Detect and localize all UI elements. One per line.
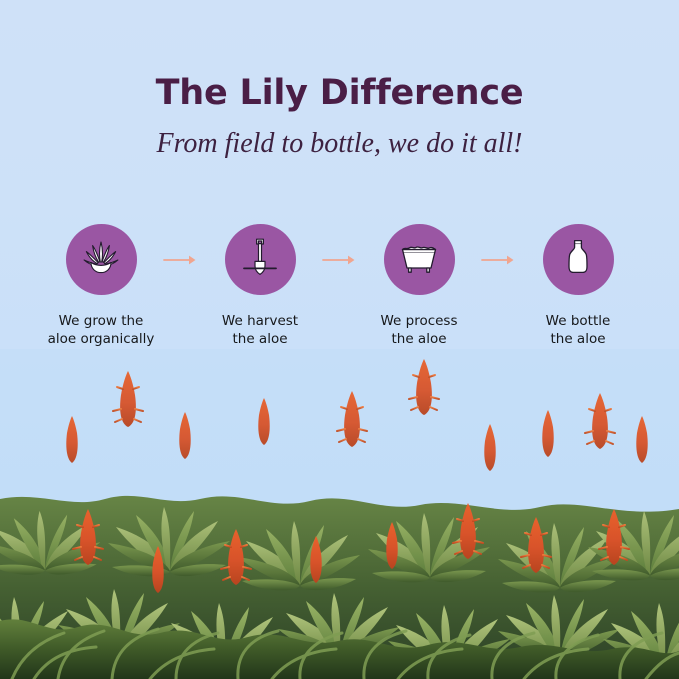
bottle-icon xyxy=(556,235,600,284)
infographic-canvas: The Lily Difference From field to bottle… xyxy=(0,0,679,679)
process-steps-row: We grow the aloe organically xyxy=(0,224,679,348)
process-step-process: We process the aloe xyxy=(362,224,477,348)
step-icon-circle-process xyxy=(384,224,455,295)
process-step-grow: We grow the aloe organically xyxy=(44,224,159,348)
page-title: The Lily Difference xyxy=(0,0,679,111)
aloe-field-photo xyxy=(0,349,679,679)
header: The Lily Difference From field to bottle… xyxy=(0,0,679,158)
arrow-right-icon-2 xyxy=(318,224,362,295)
process-step-bottle: We bottle the aloe xyxy=(521,224,636,348)
arrow-right-icon-1 xyxy=(159,224,203,295)
step-icon-circle-harvest xyxy=(225,224,296,295)
processing-vat-icon xyxy=(396,235,442,284)
step-caption-bottle: We bottle the aloe xyxy=(546,312,611,348)
aloe-plant-icon xyxy=(79,235,123,284)
arrow-right-icon-3 xyxy=(477,224,521,295)
shovel-icon xyxy=(238,235,282,284)
step-caption-process: We process the aloe xyxy=(380,312,457,348)
step-icon-circle-bottle xyxy=(543,224,614,295)
step-icon-circle-grow xyxy=(66,224,137,295)
process-step-harvest: We harvest the aloe xyxy=(203,224,318,348)
step-caption-harvest: We harvest the aloe xyxy=(222,312,298,348)
step-caption-grow: We grow the aloe organically xyxy=(48,312,155,348)
page-subtitle: From field to bottle, we do it all! xyxy=(0,111,679,158)
